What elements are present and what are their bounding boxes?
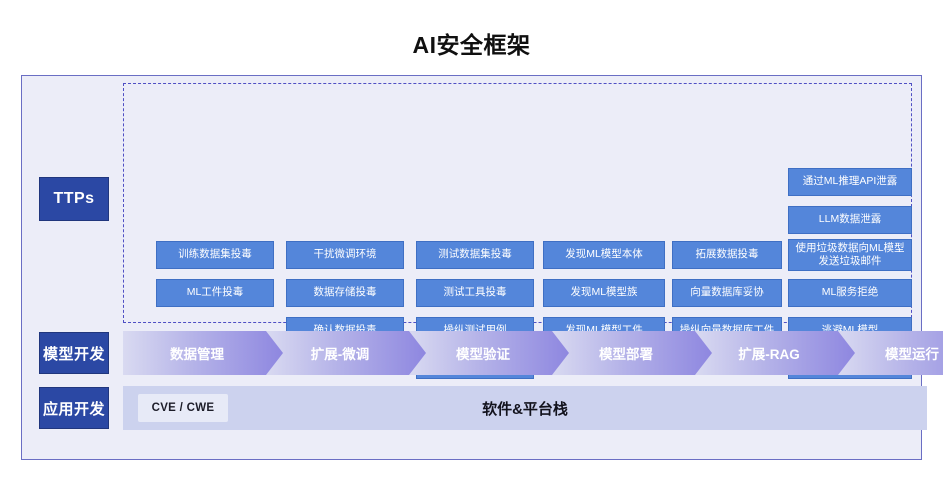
lifecycle-pipeline: 数据管理扩展-微调模型验证模型部署扩展-RAG模型运行 bbox=[123, 331, 927, 375]
ttp-box[interactable]: LLM数据泄露 bbox=[788, 206, 912, 234]
ttp-box[interactable]: 训练数据集投毒 bbox=[156, 241, 274, 269]
pipeline-stage-label: 模型验证 bbox=[456, 343, 510, 363]
ttp-box[interactable]: ML工件投毒 bbox=[156, 279, 274, 307]
pipeline-stage[interactable]: 模型验证 bbox=[409, 331, 569, 375]
application-stack-band: 软件&平台栈 CVE / CWE bbox=[123, 386, 927, 430]
pipeline-stage-label: 模型运行 bbox=[885, 343, 939, 363]
pipeline-stage-label: 数据管理 bbox=[170, 343, 224, 363]
row-label-ttps: TTPs bbox=[39, 177, 109, 221]
ttp-box[interactable]: 向量数据库妥协 bbox=[672, 279, 782, 307]
ttp-box[interactable]: 干扰微调环境 bbox=[286, 241, 404, 269]
cve-cwe-chip[interactable]: CVE / CWE bbox=[138, 394, 228, 422]
pipeline-stage[interactable]: 模型部署 bbox=[552, 331, 712, 375]
ttp-box[interactable]: ML服务拒绝 bbox=[788, 279, 912, 307]
ttp-box[interactable]: 拓展数据投毒 bbox=[672, 241, 782, 269]
software-platform-stack-label: 软件&平台栈 bbox=[123, 386, 927, 430]
ttp-box[interactable]: 使用垃圾数据向ML模型 发送垃圾邮件 bbox=[788, 239, 912, 271]
ttp-box[interactable]: 发现ML模型本体 bbox=[543, 241, 665, 269]
pipeline-stage-label: 扩展-微调 bbox=[311, 343, 370, 363]
ttp-box[interactable]: 测试工具投毒 bbox=[416, 279, 534, 307]
page-title: AI安全框架 bbox=[0, 26, 943, 60]
ttp-box[interactable]: 通过ML推理API泄露 bbox=[788, 168, 912, 196]
pipeline-stage-label: 模型部署 bbox=[599, 343, 653, 363]
row-label-model-development: 模型开发 bbox=[39, 332, 109, 374]
pipeline-stage-label: 扩展-RAG bbox=[738, 343, 800, 363]
ttp-box[interactable]: 测试数据集投毒 bbox=[416, 241, 534, 269]
pipeline-stage[interactable]: 扩展-RAG bbox=[695, 331, 855, 375]
ttp-box[interactable]: 发现ML模型族 bbox=[543, 279, 665, 307]
framework-diagram-frame: TTPs 模型开发 应用开发 训练数据集投毒ML工件投毒干扰微调环境数据存储投毒… bbox=[21, 75, 922, 460]
pipeline-stage[interactable]: 扩展-微调 bbox=[266, 331, 426, 375]
pipeline-stage[interactable]: 数据管理 bbox=[123, 331, 283, 375]
row-label-application-development: 应用开发 bbox=[39, 387, 109, 429]
ttp-box[interactable]: 数据存储投毒 bbox=[286, 279, 404, 307]
